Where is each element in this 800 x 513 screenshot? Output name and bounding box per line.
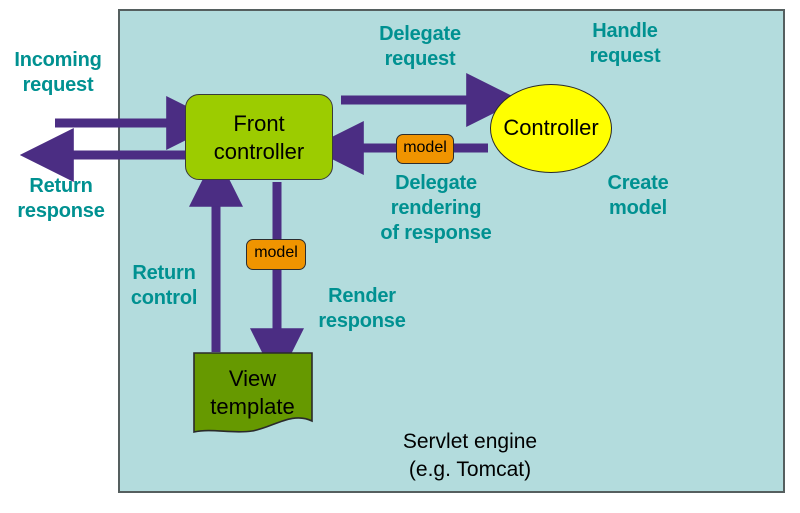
node-controller[interactable]: Controller	[490, 84, 612, 173]
label-render-response: Render response	[303, 284, 421, 334]
label-delegate-request: Delegate request	[357, 22, 483, 72]
node-controller-label: Controller	[491, 115, 611, 141]
label-incoming-request: Incoming request	[0, 48, 116, 98]
label-return-control: Return control	[113, 261, 215, 311]
model-chip-view[interactable]: model	[246, 239, 306, 270]
node-front-controller[interactable]: Front controller	[185, 94, 333, 180]
node-front-controller-label: Front controller	[186, 110, 332, 166]
label-delegate-rendering: Delegate rendering of response	[360, 171, 512, 246]
label-create-model: Create model	[588, 171, 688, 221]
label-handle-request: Handle request	[568, 19, 682, 69]
servlet-engine-caption: Servlet engine (e.g. Tomcat)	[350, 428, 590, 484]
diagram-canvas: Front controller Controller View templat…	[0, 0, 800, 513]
node-view-template-label: View template	[193, 365, 312, 421]
label-return-response: Return response	[0, 174, 122, 224]
model-chip-controller[interactable]: model	[396, 134, 454, 164]
